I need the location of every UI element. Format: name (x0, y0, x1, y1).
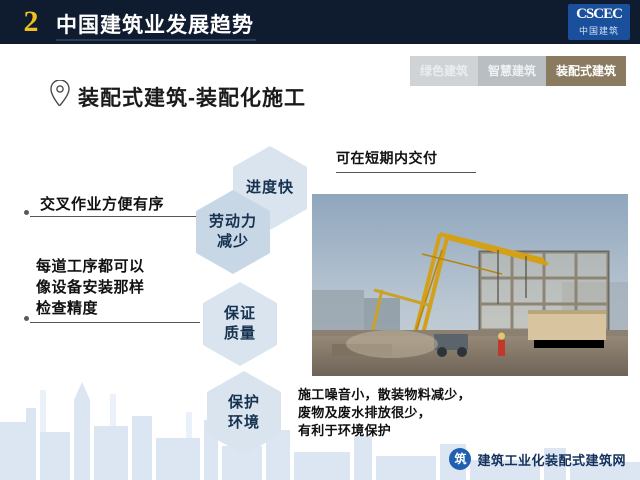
watermark-text: 建筑工业化装配式建筑网 (477, 450, 626, 469)
logo-mark: CSCEC (568, 6, 630, 24)
left-text-2-line3: 检查精度 (36, 298, 196, 319)
section-number: 2 (14, 5, 48, 39)
bottom-text-environment: 施工噪音小，散装物料减少， 废物及废水排放很少， 有利于环境保护 (298, 386, 548, 440)
bullet-dot (24, 210, 29, 215)
bullet-line (30, 216, 200, 217)
section-title: 装配式建筑-装配化施工 (78, 82, 306, 112)
page-title: 中国建筑业发展趋势 (56, 9, 254, 39)
hex-badge-environment-line2: 环境 (228, 413, 260, 433)
right-text-delivery: 可在短期内交付 (336, 148, 438, 168)
bottom-text-line2: 废物及废水排放很少， (298, 404, 548, 422)
slide: 2 中国建筑业发展趋势 CSCEC 中国建筑 绿色建筑 智慧建筑 装配式建筑 装… (0, 0, 640, 480)
hex-badge-quality: 保证 质量 (203, 282, 277, 366)
bullet-dot (24, 316, 29, 321)
bullet-line (30, 322, 200, 323)
left-text-2: 每道工序都可以 像设备安装那样 检查精度 (36, 256, 196, 319)
bottom-text-line1: 施工噪音小，散装物料减少， (298, 386, 548, 404)
location-pin-icon (50, 80, 70, 106)
left-text-2-line1: 每道工序都可以 (36, 256, 196, 277)
tab-bar[interactable]: 绿色建筑 智慧建筑 装配式建筑 (410, 56, 626, 86)
right-text-underline (336, 172, 476, 173)
tab-prefab-building[interactable]: 装配式建筑 (546, 56, 626, 86)
slide-header: 2 中国建筑业发展趋势 CSCEC 中国建筑 (0, 0, 640, 44)
watermark: 筑 建筑工业化装配式建筑网 (449, 448, 626, 470)
logo-text: 中国建筑 (568, 24, 630, 37)
hex-badge-labor-label: 劳动力 减少 (209, 212, 257, 252)
hex-badge-labor-line2: 减少 (209, 232, 257, 252)
watermark-badge: 筑 (449, 448, 471, 470)
hex-badge-environment-line1: 保护 (228, 393, 260, 413)
construction-site-photo (312, 194, 628, 376)
hex-badge-speed-label: 进度快 (246, 178, 294, 198)
hex-badge-quality-line2: 质量 (224, 324, 256, 344)
company-logo: CSCEC 中国建筑 (568, 4, 630, 40)
hex-badge-labor-line1: 劳动力 (209, 212, 257, 232)
left-text-2-line2: 像设备安装那样 (36, 277, 196, 298)
hex-badge-environment-label: 保护 环境 (228, 393, 260, 433)
tab-green-building[interactable]: 绿色建筑 (410, 56, 478, 86)
hex-badge-quality-label: 保证 质量 (224, 304, 256, 344)
left-text-1: 交叉作业方便有序 (40, 194, 164, 215)
bottom-text-line3: 有利于环境保护 (298, 422, 548, 440)
hex-badge-quality-line1: 保证 (224, 304, 256, 324)
tab-smart-building[interactable]: 智慧建筑 (478, 56, 546, 86)
title-underline (56, 39, 256, 41)
